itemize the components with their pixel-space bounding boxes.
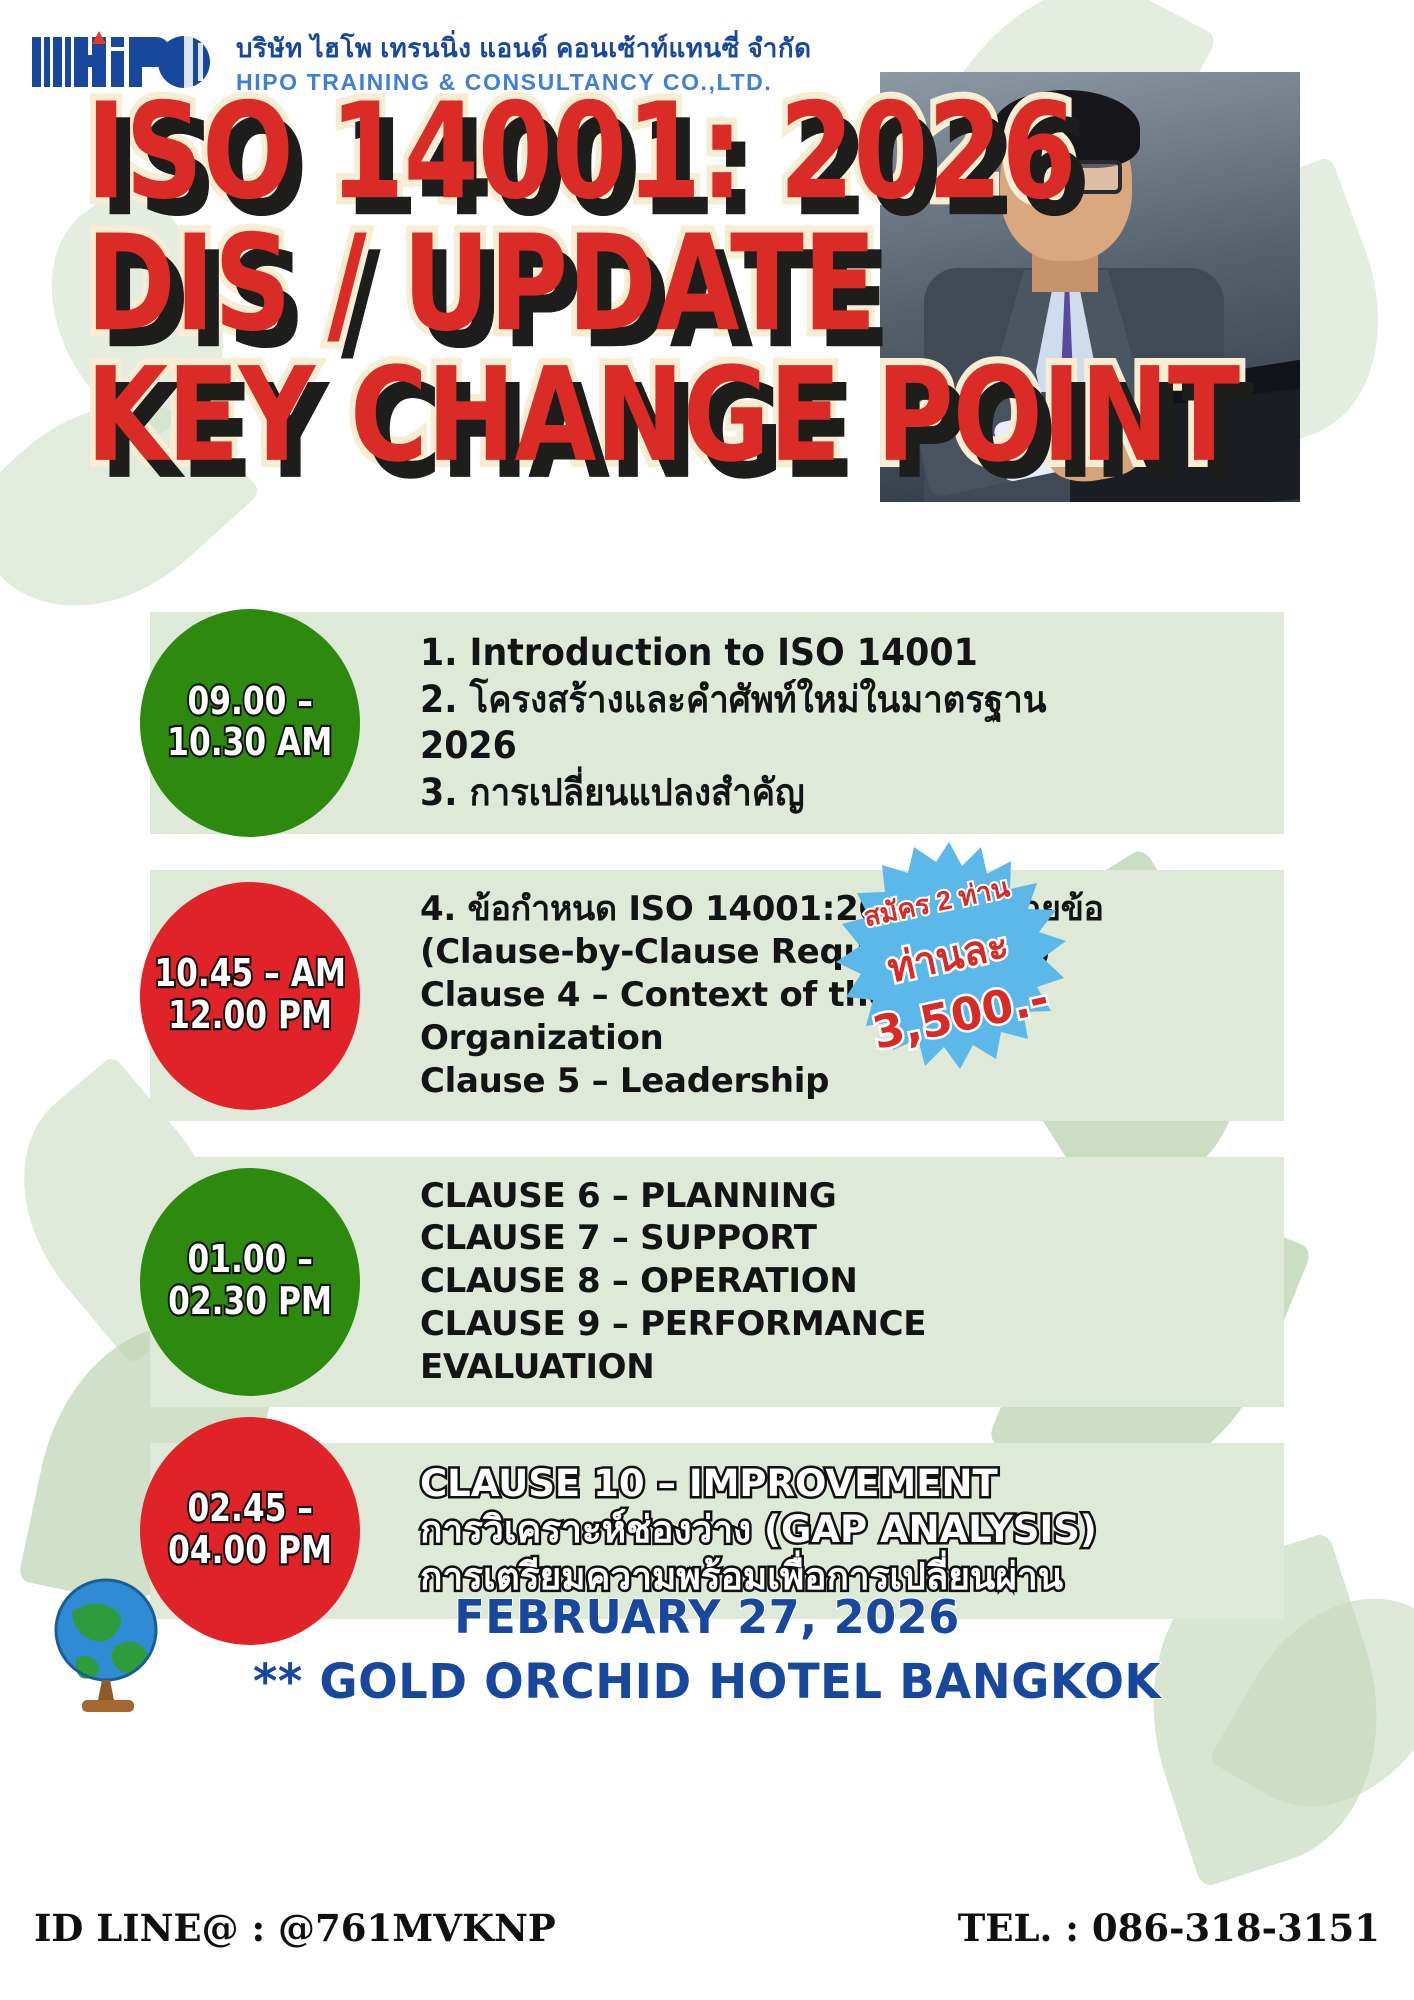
time-line-1: 09.00 – bbox=[187, 679, 312, 725]
page-title: ISO 14001: 2026 DIS / UPDATE KEY CHANGE … bbox=[86, 88, 1376, 482]
time-line-2: 12.00 PM bbox=[168, 993, 332, 1039]
time-line-2: 02.30 PM bbox=[168, 1279, 332, 1325]
agenda-item: CLAUSE 7 – SUPPORT bbox=[420, 1217, 1258, 1260]
agenda-item: 3. การเปลี่ยนแปลงสำคัญ bbox=[420, 770, 1208, 817]
title-line-3: KEY CHANGE POINT bbox=[86, 352, 1414, 479]
time-line-1: 01.00 – bbox=[187, 1238, 312, 1284]
time-badge: 01.00 – 02.30 PM bbox=[140, 1168, 360, 1396]
agenda-item: 2. โครงสร้างและคำศัพท์ใหม่ในมาตรฐาน bbox=[420, 677, 1208, 724]
agenda-item: 2026 bbox=[420, 723, 1208, 770]
time-badge: 10.45 – AM 12.00 PM bbox=[140, 882, 360, 1110]
agenda-item: CLAUSE 8 – OPERATION bbox=[420, 1260, 1258, 1303]
schedule-row: 01.00 – 02.30 PM CLAUSE 6 – PLANNING CLA… bbox=[0, 1157, 1414, 1407]
time-badge: 09.00 – 10.30 AM bbox=[140, 609, 360, 837]
company-name-thai: บริษัท ไฮโพ เทรนนิ่ง แอนด์ คอนเซ้าท์แทนซ… bbox=[236, 28, 812, 69]
time-line-1: 02.45 – bbox=[187, 1487, 312, 1533]
schedule-row: 09.00 – 10.30 AM 1. Introduction to ISO … bbox=[0, 612, 1414, 834]
event-date: FEBRUARY 27, 2026 bbox=[21, 1590, 1393, 1644]
line-id[interactable]: ID LINE@ : @761MVKNP bbox=[34, 1906, 556, 1950]
agenda-item: EVALUATION bbox=[420, 1346, 1258, 1389]
time-line-1: 10.45 – AM bbox=[154, 952, 346, 998]
price-badge: สมัคร 2 ท่าน ท่านละ 3,500.- bbox=[826, 838, 1072, 1084]
schedule-row: 10.45 – AM 12.00 PM 4. ข้อกำหนด ISO 1400… bbox=[0, 870, 1414, 1120]
agenda-item: CLAUSE 10 – IMPROVEMENT bbox=[420, 1461, 1258, 1508]
event-venue: ** GOLD ORCHID HOTEL BANGKOK bbox=[21, 1654, 1393, 1710]
telephone[interactable]: TEL. : 086-318-3151 bbox=[958, 1906, 1380, 1950]
agenda-item: CLAUSE 6 – PLANNING bbox=[420, 1175, 1258, 1218]
time-line-2: 04.00 PM bbox=[168, 1528, 332, 1574]
contact-bar: ID LINE@ : @761MVKNP TEL. : 086-318-3151 bbox=[0, 1906, 1414, 1950]
title-line-1: ISO 14001: 2026 bbox=[86, 88, 1414, 218]
agenda-item: 1. Introduction to ISO 14001 bbox=[420, 630, 1208, 677]
title-line-2: DIS / UPDATE bbox=[86, 220, 1414, 350]
schedule-list: 09.00 – 10.30 AM 1. Introduction to ISO … bbox=[0, 612, 1414, 1655]
agenda-item: การวิเคราะห์ช่องว่าง (GAP ANALYSIS) bbox=[420, 1507, 1258, 1554]
agenda-item: CLAUSE 9 – PERFORMANCE bbox=[420, 1303, 1258, 1346]
time-line-2: 10.30 AM bbox=[167, 721, 332, 767]
footer-info: FEBRUARY 27, 2026 ** GOLD ORCHID HOTEL B… bbox=[0, 1590, 1414, 1710]
